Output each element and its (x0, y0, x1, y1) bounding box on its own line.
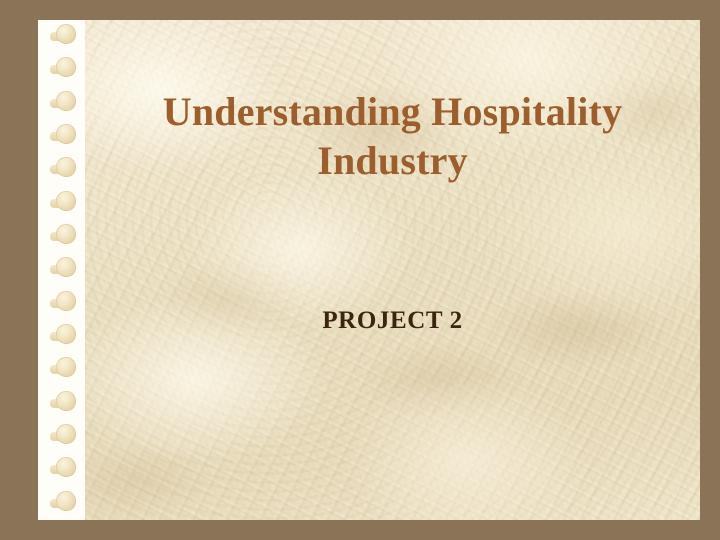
page-title-line-2: Industry (85, 137, 700, 186)
page-title: Understanding Hospitality Industry (85, 88, 700, 186)
slide-subtitle: PROJECT 2 (85, 306, 700, 336)
page-title-line-1: Understanding Hospitality (85, 88, 700, 137)
slide-text-layer: Understanding Hospitality Industry PROJE… (0, 0, 720, 540)
presentation-slide: Understanding Hospitality Industry PROJE… (0, 0, 720, 540)
